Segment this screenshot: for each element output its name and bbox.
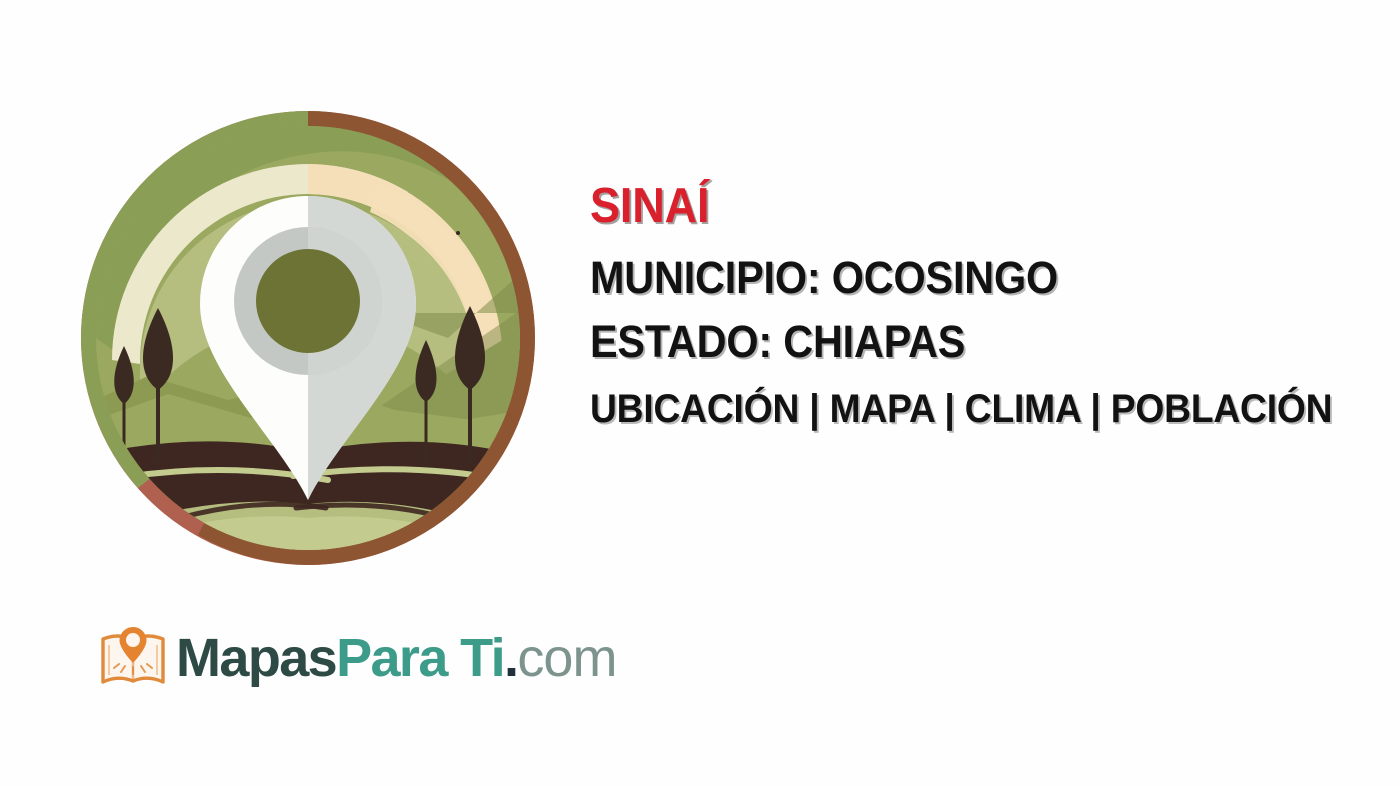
landscape-location-badge (78, 108, 538, 568)
brand-logo[interactable]: MapasPara Ti.com (96, 618, 616, 698)
brand-part-com: com (517, 628, 616, 688)
place-info-block: SINAÍ MUNICIPIO: OCOSINGO ESTADO: CHIAPA… (590, 178, 1390, 438)
brand-part-parati: Para Ti (336, 628, 504, 688)
brand-part-dot: . (504, 628, 517, 688)
badge-scene (78, 108, 538, 568)
open-book-map-pin-icon (96, 621, 170, 695)
section-links[interactable]: UBICACIÓN | MAPA | CLIMA | POBLACIÓN (590, 380, 1334, 438)
municipio-label: MUNICIPIO: OCOSINGO (590, 246, 1326, 310)
estado-label: ESTADO: CHIAPAS (590, 310, 1326, 374)
page-title: SINAÍ (590, 178, 1326, 234)
brand-wordmark: MapasPara Ti.com (176, 628, 616, 688)
brand-part-mapas: Mapas (176, 628, 336, 688)
page-canvas: SINAÍ MUNICIPIO: OCOSINGO ESTADO: CHIAPA… (0, 0, 1400, 786)
speck-dot (456, 231, 460, 235)
badge-illustration (78, 108, 538, 568)
